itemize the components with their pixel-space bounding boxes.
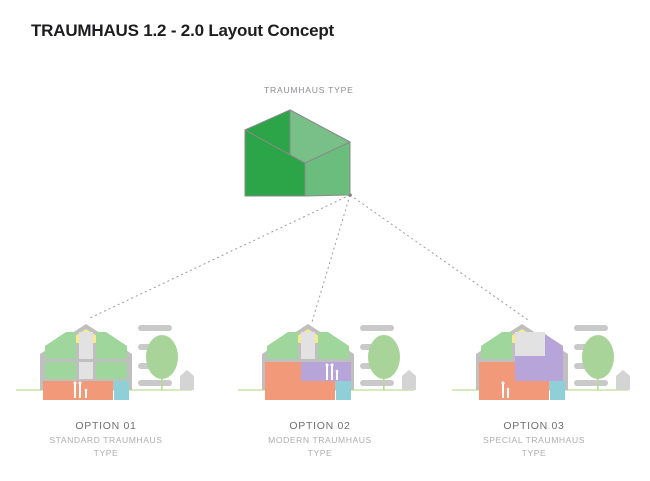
figure-child-1 xyxy=(336,372,338,380)
shed-body xyxy=(180,370,194,390)
option-01-title: OPTION 01 xyxy=(6,420,206,433)
room-upper-left-living xyxy=(481,346,512,359)
connector-line-option-01 xyxy=(90,195,350,318)
hero-isometric-house xyxy=(245,110,350,196)
option-03-subtitle-line2: TYPE xyxy=(434,448,634,459)
shed-body xyxy=(616,370,630,390)
room-upper-left-living-slope xyxy=(481,332,512,346)
room-circulation-core-mid xyxy=(79,362,93,379)
annotation-tag-1[interactable] xyxy=(360,325,394,331)
garden-shed xyxy=(180,370,194,390)
room-ground-main-lower xyxy=(265,381,335,400)
option-02-subtitle-line2: TYPE xyxy=(220,448,420,459)
figure-child-1-head xyxy=(507,388,510,391)
option-01-subtitle-line1: STANDARD TRAUMHAUS xyxy=(6,435,206,446)
figure-adult-2-head xyxy=(79,382,82,385)
annotation-tag-4[interactable] xyxy=(360,380,394,386)
figure-adult-1 xyxy=(502,384,504,398)
figure-child-1 xyxy=(85,391,87,398)
figure-adult-1-head xyxy=(326,364,329,367)
annotation-tag-4[interactable] xyxy=(138,380,172,386)
option-01-section-drawing[interactable] xyxy=(16,324,194,400)
figure-child-1 xyxy=(507,390,509,398)
room-ground-utility xyxy=(550,381,565,400)
option-01-caption[interactable]: OPTION 01 STANDARD TRAUMHAUS TYPE xyxy=(6,420,206,459)
connector-lines xyxy=(90,195,528,322)
room-upper-right-living-slope xyxy=(318,332,349,346)
room-circulation-core-upper xyxy=(301,332,315,359)
connector-line-option-02 xyxy=(312,195,350,322)
option-03-section-drawing[interactable] xyxy=(452,324,630,400)
option-02-caption[interactable]: OPTION 02 MODERN TRAUMHAUS TYPE xyxy=(220,420,420,459)
garden-shed xyxy=(402,370,416,390)
room-upper-left-living-slope xyxy=(45,332,76,346)
figure-adult-1 xyxy=(74,384,76,398)
option-03-subtitle-line1: SPECIAL TRAUMHAUS xyxy=(434,435,634,446)
hero-house-label: TRAUMHAUS TYPE xyxy=(264,85,354,95)
shed-body xyxy=(402,370,416,390)
figure-adult-1-head xyxy=(74,382,77,385)
connector-line-option-03 xyxy=(350,195,528,320)
option-02-section-drawing[interactable] xyxy=(238,324,416,400)
room-mid-left-living xyxy=(45,362,76,379)
figure-adult-1 xyxy=(326,366,328,380)
room-ground-main xyxy=(43,381,113,400)
room-ground-utility xyxy=(336,381,351,400)
tree-canopy xyxy=(368,335,400,379)
room-upper-right-living xyxy=(96,346,127,359)
option-03-title: OPTION 03 xyxy=(434,420,634,433)
figure-child-1-head xyxy=(85,389,88,392)
annotation-tag-4[interactable] xyxy=(574,380,608,386)
tree-canopy xyxy=(146,335,178,379)
room-upper-left-living-slope xyxy=(267,332,298,346)
room-circulation-core-upper xyxy=(79,332,93,359)
room-ground-main-lower xyxy=(479,381,549,400)
room-ground-utility xyxy=(114,381,129,400)
figure-child-1-head xyxy=(336,370,339,373)
annotation-tag-1[interactable] xyxy=(138,325,172,331)
room-upper-left-living xyxy=(267,346,298,359)
option-03-caption[interactable]: OPTION 03 SPECIAL TRAUMHAUS TYPE xyxy=(434,420,634,459)
room-circulation-core-upper xyxy=(515,332,545,356)
tree-canopy xyxy=(582,335,614,379)
garden-shed xyxy=(616,370,630,390)
option-02-subtitle-line1: MODERN TRAUMHAUS xyxy=(220,435,420,446)
layout-concept-diagram xyxy=(0,0,650,481)
room-upper-right-living xyxy=(318,346,349,359)
room-upper-left-living xyxy=(45,346,76,359)
option-02-title: OPTION 02 xyxy=(220,420,420,433)
option-01-subtitle-line2: TYPE xyxy=(6,448,206,459)
figure-adult-2 xyxy=(79,384,81,398)
room-upper-right-living-slope xyxy=(96,332,127,346)
figure-adult-1-head xyxy=(502,382,505,385)
annotation-tag-1[interactable] xyxy=(574,325,608,331)
room-mid-right-living xyxy=(96,362,127,379)
figure-adult-2 xyxy=(331,366,333,380)
figure-adult-2-head xyxy=(331,364,334,367)
